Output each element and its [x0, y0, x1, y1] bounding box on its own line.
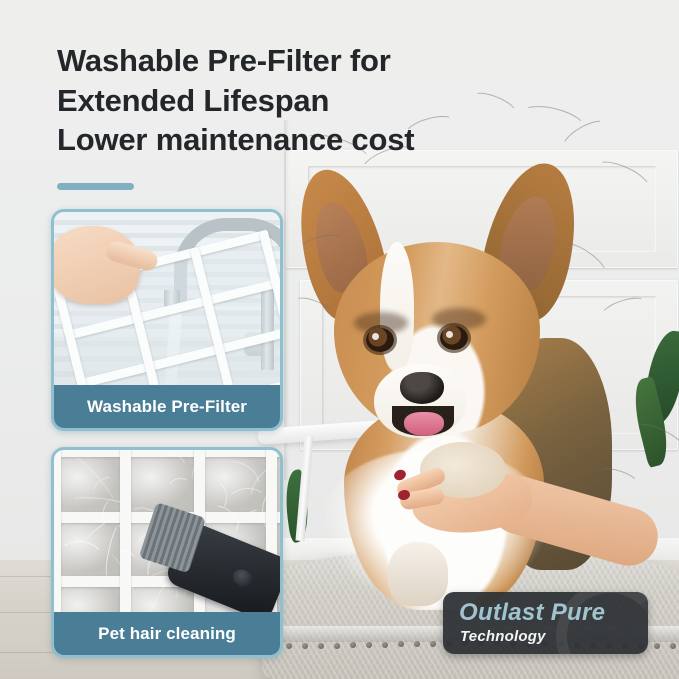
- card-caption: Pet hair cleaning: [54, 612, 280, 655]
- badge-subtitle: Technology: [460, 628, 546, 645]
- dog-tongue: [404, 412, 444, 436]
- badge-title: Outlast Pure: [459, 599, 605, 627]
- dog-eye-right: [440, 326, 468, 350]
- dog-eye-left: [366, 328, 394, 352]
- product-marketing-image: Washable Pre-Filter for Extended Lifespa…: [0, 0, 679, 679]
- dog-mouth: [392, 406, 454, 436]
- accent-bar: [57, 183, 134, 190]
- feature-card-washable-pre-filter[interactable]: Washable Pre-Filter: [51, 209, 283, 431]
- page-title: Washable Pre-Filter for Extended Lifespa…: [57, 41, 597, 160]
- feature-card-pet-hair-cleaning[interactable]: Pet hair cleaning: [51, 447, 283, 658]
- brand-badge: Outlast Pure Technology: [443, 592, 648, 654]
- dog-nose: [400, 372, 444, 404]
- card-caption: Washable Pre-Filter: [54, 385, 280, 428]
